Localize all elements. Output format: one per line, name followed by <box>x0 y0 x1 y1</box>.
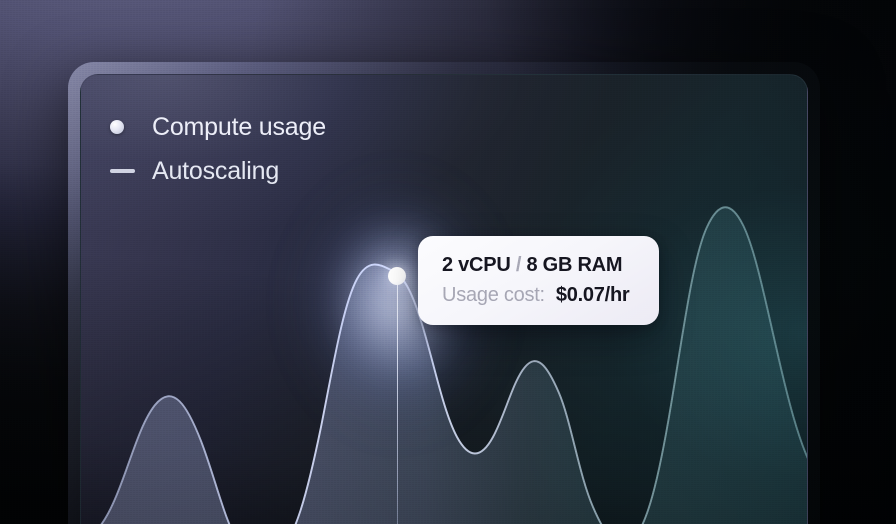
dot-marker-icon <box>110 120 152 134</box>
legend-label-autoscaling: Autoscaling <box>152 157 279 186</box>
chart-legend: Compute usage Autoscaling <box>110 105 326 193</box>
tooltip-spec-line: 2 vCPU / 8 GB RAM <box>442 254 637 277</box>
tooltip-ram: 8 GB RAM <box>526 254 622 276</box>
tooltip-cost-line: Usage cost: $0.07/hr <box>442 284 637 307</box>
legend-item-autoscaling[interactable]: Autoscaling <box>110 149 326 193</box>
legend-item-compute-usage[interactable]: Compute usage <box>110 105 326 149</box>
tooltip-separator: / <box>511 254 527 276</box>
screenshot-root: Compute usage Autoscaling 2 vCPU / 8 GB … <box>0 0 896 524</box>
chart-cursor-line <box>397 275 399 524</box>
tooltip-cost-value: $0.07/hr <box>556 284 630 307</box>
chart-panel: Compute usage Autoscaling 2 vCPU / 8 GB … <box>80 74 808 524</box>
dash-marker-icon <box>110 169 152 173</box>
tooltip-vcpu: 2 vCPU <box>442 254 511 276</box>
legend-label-compute-usage: Compute usage <box>152 113 326 142</box>
chart-tooltip: 2 vCPU / 8 GB RAM Usage cost: $0.07/hr <box>418 236 659 325</box>
chart-highlight-marker[interactable] <box>388 267 406 285</box>
tooltip-cost-label: Usage cost: <box>442 284 545 307</box>
